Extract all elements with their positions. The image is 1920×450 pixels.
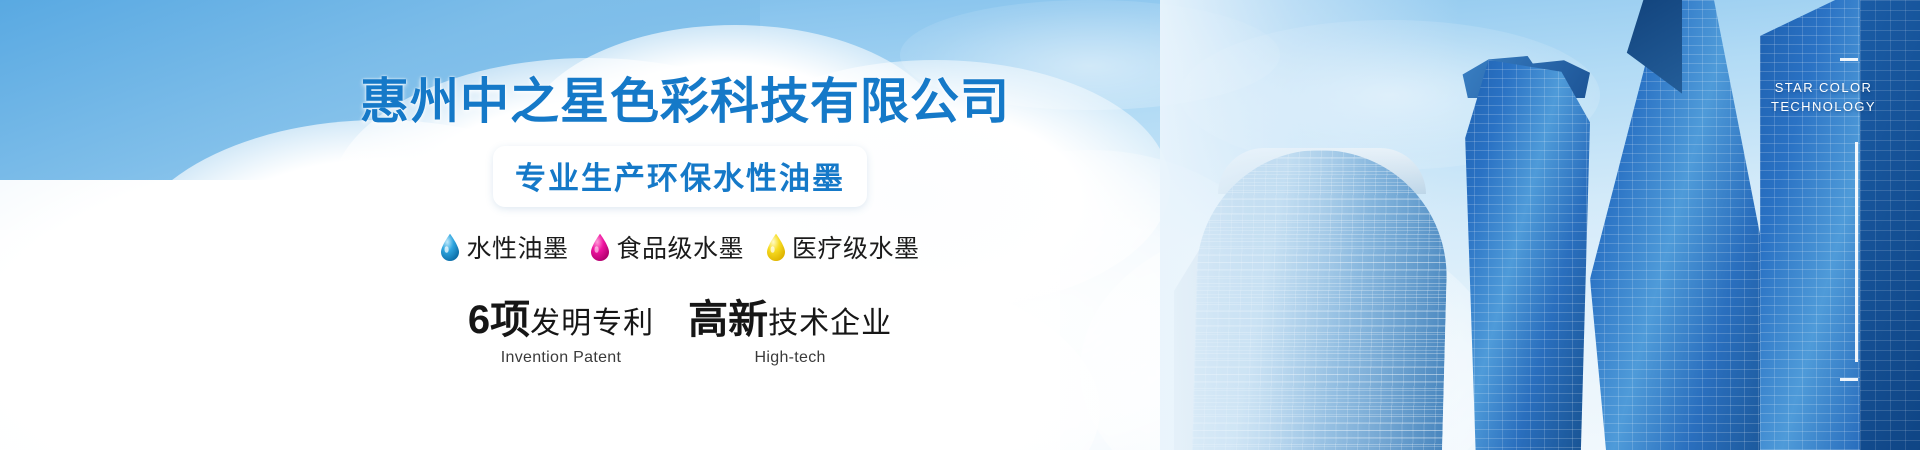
skyscraper-photo <box>1160 0 1920 450</box>
feature-label: 医疗级水墨 <box>792 229 920 265</box>
feature-label: 食品级水墨 <box>616 229 744 265</box>
feature-item: 医疗级水墨 <box>766 229 920 265</box>
watermark: Star Color <box>140 205 380 315</box>
brand-mark-line-2: TECHNOLOGY <box>1771 97 1876 116</box>
stat-small-text: 发明专利 <box>530 307 654 340</box>
stat-item-invention-patent: 6项发明专利 Invention Patent <box>468 287 654 367</box>
company-hero-banner: STAR COLOR TECHNOLOGY Star Color 惠州中之星色彩… <box>0 0 1920 450</box>
water-drop-icon <box>440 233 460 261</box>
subtitle-pill: 专业生产环保水性油墨 <box>493 146 867 207</box>
stat-line: 6项发明专利 <box>468 287 654 345</box>
feature-label: 水性油墨 <box>466 229 568 265</box>
right-glass-tower-face <box>1860 0 1920 450</box>
brand-tick-bottom <box>1840 378 1858 381</box>
stat-english-caption: Invention Patent <box>468 349 654 367</box>
subtitle-pill-wrap: 专业生产环保水性油墨 <box>360 146 1000 207</box>
stat-line: 高新技术企业 <box>688 287 892 345</box>
brand-tick-top <box>1840 58 1858 61</box>
feature-list: 水性油墨 食品级水墨 <box>360 229 1000 265</box>
feature-item: 食品级水墨 <box>590 229 744 265</box>
stat-small-text: 技术企业 <box>768 307 892 340</box>
watermark-text: Star Color <box>140 263 380 301</box>
stat-list: 6项发明专利 Invention Patent 高新技术企业 High-tech <box>360 287 1000 367</box>
page-title: 惠州中之星色彩科技有限公司 <box>360 62 1000 133</box>
brand-mark-line-1: STAR COLOR <box>1771 78 1876 97</box>
curved-glass-tower <box>1460 60 1590 450</box>
stat-big-text: 6项 <box>468 298 530 342</box>
city-atmospheric-haze <box>1160 0 1460 450</box>
feature-item: 水性油墨 <box>440 229 568 265</box>
water-drop-icon <box>766 233 786 261</box>
stat-item-high-tech: 高新技术企业 High-tech <box>688 287 892 367</box>
brand-vertical-line <box>1855 142 1858 362</box>
banner-content: 惠州中之星色彩科技有限公司 专业生产环保水性油墨 水性油墨 <box>360 0 1000 450</box>
stat-english-caption: High-tech <box>688 349 892 367</box>
stat-big-text: 高新 <box>688 298 768 342</box>
brand-mark: STAR COLOR TECHNOLOGY <box>1771 78 1876 116</box>
water-drop-icon <box>590 233 610 261</box>
